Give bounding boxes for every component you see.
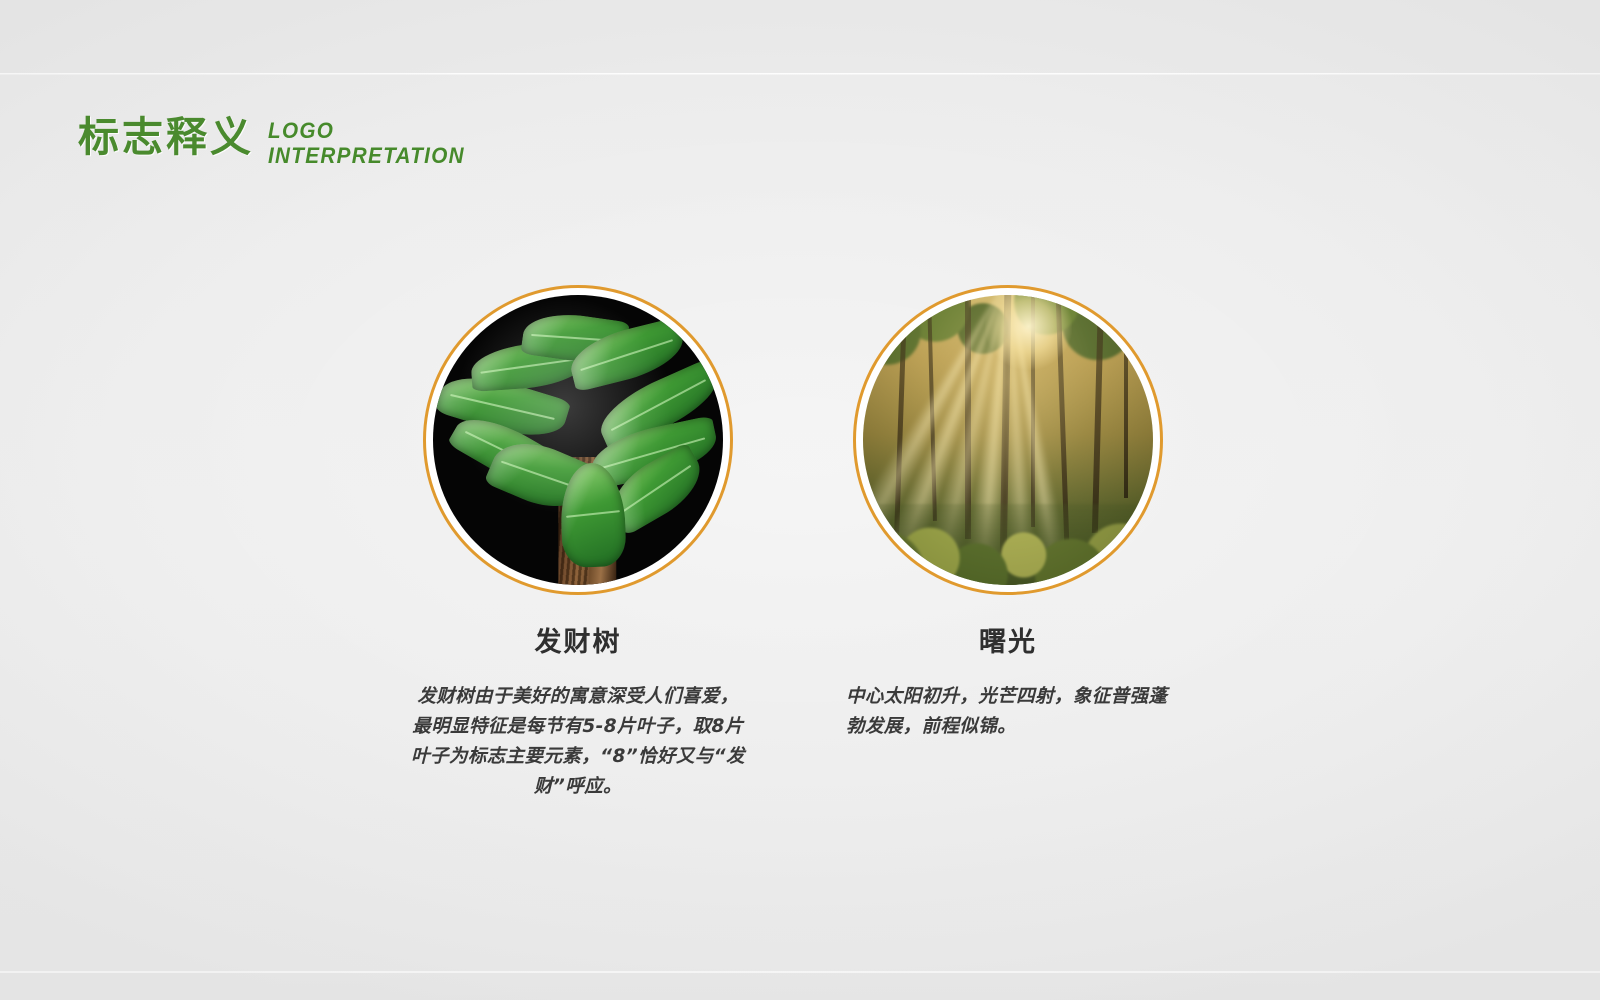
content-item-sunrays: 曙光 中心太阳初升，光芒四射，象征普强蓬勃发展，前程似锦。 [838,285,1178,742]
caption-title-money-tree: 发财树 [408,626,748,660]
money-tree-photo [433,295,723,585]
slide-canvas: 标志释义 LOGO INTERPRETATION [0,0,1600,1000]
content-columns: 发财树 发财树由于美好的寓意深受人们喜爱，最明显特征是每节有5-8片叶子，取8片… [0,0,1600,1000]
money-tree-illustration [433,295,723,585]
medallion-frame-money-tree [423,285,733,595]
caption-body-sunrays: 中心太阳初升，光芒四射，象征普强蓬勃发展，前程似锦。 [838,682,1178,742]
caption-title-sunrays: 曙光 [838,626,1178,660]
medallion-frame-sunrays [853,285,1163,595]
forest-illustration [863,295,1153,585]
caption-body-money-tree: 发财树由于美好的寓意深受人们喜爱，最明显特征是每节有5-8片叶子，取8片叶子为标… [408,682,748,802]
forest-undergrowth [863,504,1153,585]
content-item-money-tree: 发财树 发财树由于美好的寓意深受人们喜爱，最明显特征是每节有5-8片叶子，取8片… [408,285,748,802]
sunrays-forest-photo [863,295,1153,585]
sun-icon [985,295,1072,370]
